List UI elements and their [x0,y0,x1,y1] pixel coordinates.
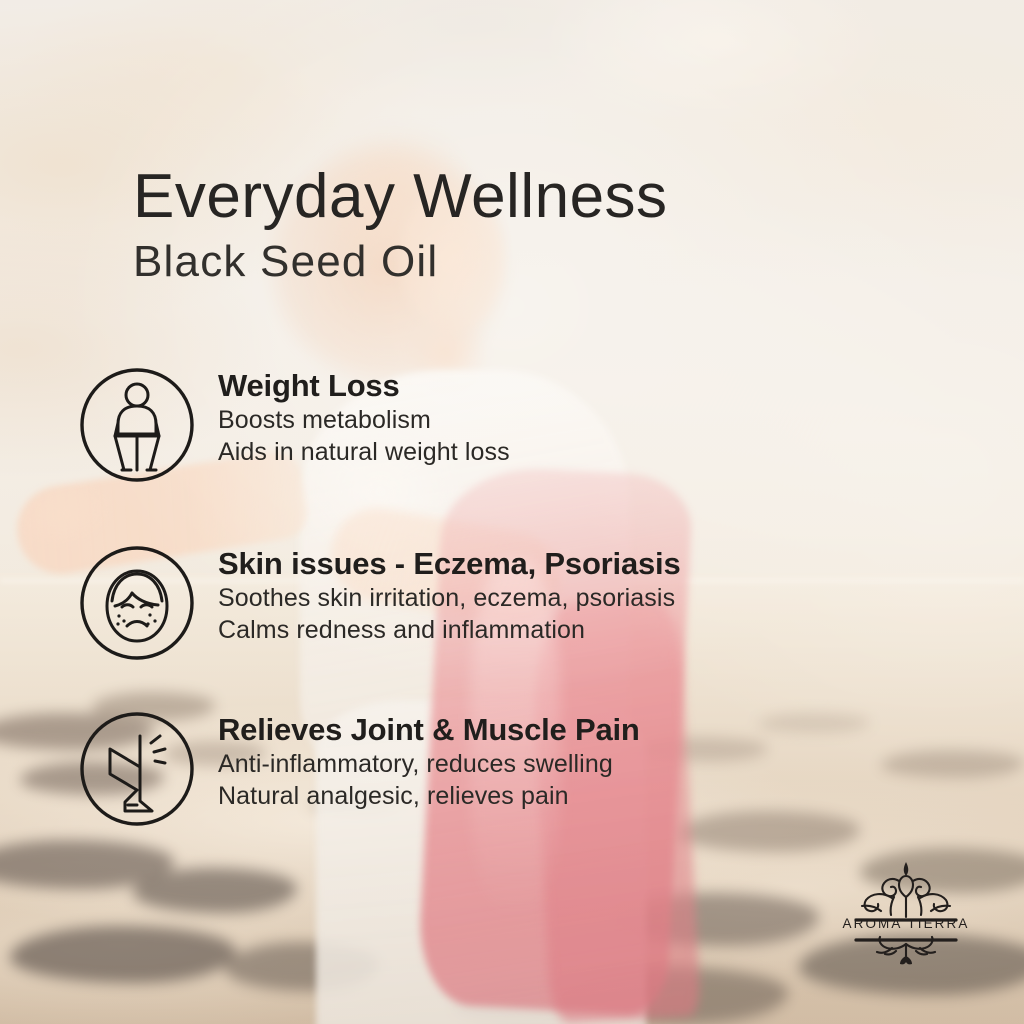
brand-name: AROMA TIERRA [832,916,980,931]
poster-title: Everyday Wellness [133,166,668,228]
benefits-list: Weight Loss Boosts metabolism Aids in na… [0,362,1024,866]
brand-logo: AROMA TIERRA [832,854,980,974]
benefit-item: Relieves Joint & Muscle Pain Anti-inflam… [0,706,1024,828]
benefit-item: Skin issues - Eczema, Psoriasis Soothes … [0,540,1024,662]
benefit-line: Calms redness and inflammation [218,615,681,647]
benefit-heading: Skin issues - Eczema, Psoriasis [218,546,681,582]
benefit-line: Aids in natural weight loss [218,437,510,469]
benefit-text-block: Skin issues - Eczema, Psoriasis Soothes … [218,540,681,647]
overweight-person-measuring-tape-icon [78,366,196,484]
benefit-line: Soothes skin irritation, eczema, psorias… [218,583,681,615]
title-block: Everyday Wellness Black Seed Oil [133,166,668,284]
poster-subtitle: Black Seed Oil [133,240,668,284]
poster-content: Everyday Wellness Black Seed Oil [0,0,1024,1024]
ornamental-flourish-logo [832,854,980,974]
irritated-sad-face-skin-icon [78,544,196,662]
benefit-line: Boosts metabolism [218,405,510,437]
benefit-heading: Weight Loss [218,368,510,404]
benefit-text-block: Weight Loss Boosts metabolism Aids in na… [218,362,510,469]
benefit-heading: Relieves Joint & Muscle Pain [218,712,640,748]
benefit-item: Weight Loss Boosts metabolism Aids in na… [0,362,1024,484]
benefit-line: Anti-inflammatory, reduces swelling [218,749,640,781]
painful-knee-leg-icon [78,710,196,828]
promotional-poster: Everyday Wellness Black Seed Oil [0,0,1024,1024]
benefit-text-block: Relieves Joint & Muscle Pain Anti-inflam… [218,706,640,813]
benefit-line: Natural analgesic, relieves pain [218,781,640,813]
